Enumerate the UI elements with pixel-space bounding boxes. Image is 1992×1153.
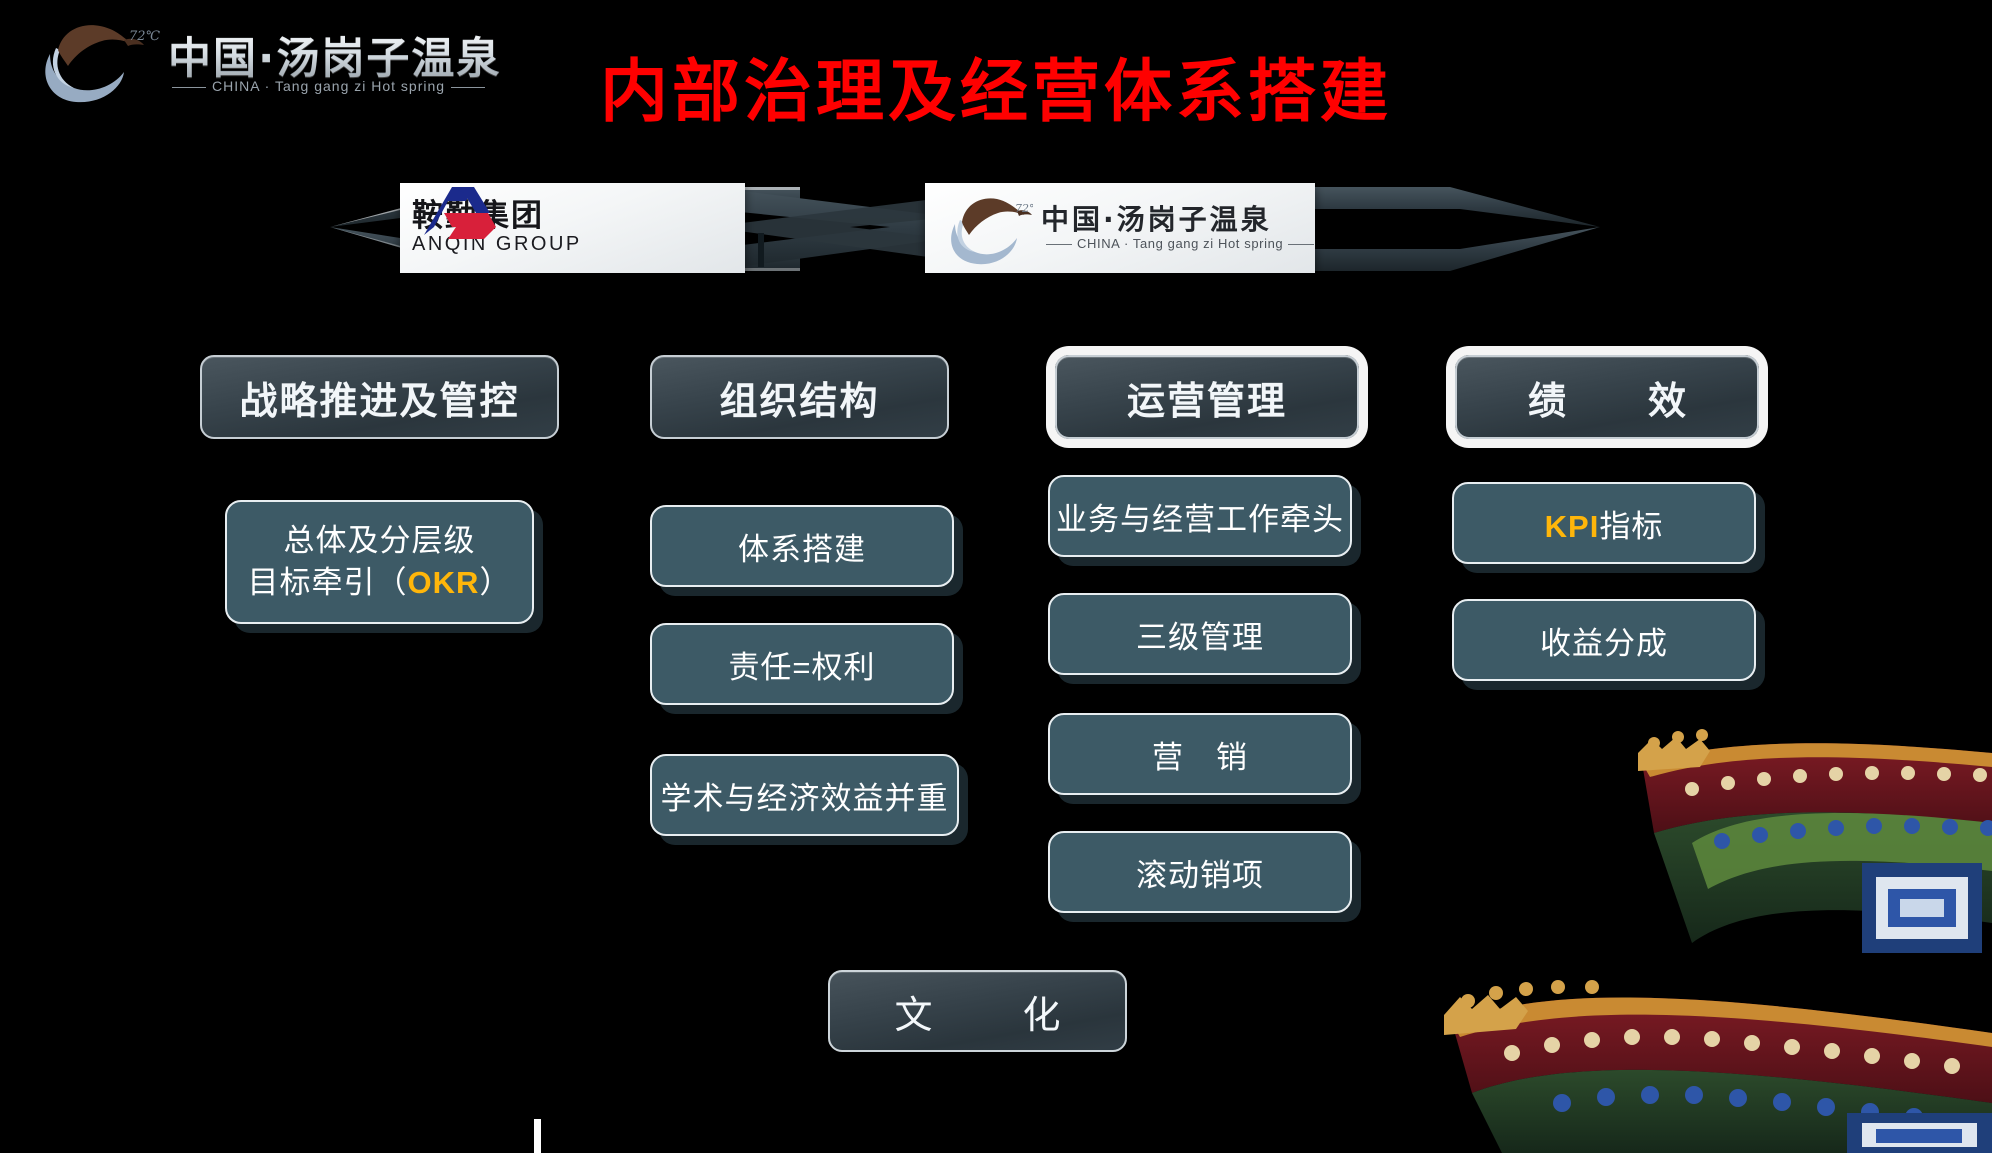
item-marketing-label: 营 销 (1152, 732, 1248, 777)
item-academic-economic-balance[interactable]: 学术与经济效益并重 (650, 754, 959, 836)
column-header-strategy[interactable]: 战略推进及管控 (200, 355, 559, 439)
item-business-operations-lead[interactable]: 业务与经营工作牵头 (1048, 475, 1352, 557)
hot-spring-name-cn: 中国·汤岗子温泉 (1041, 205, 1319, 236)
item-kpi-indicators[interactable]: KPI指标 (1452, 482, 1756, 564)
slide-canvas: 72℃ 中国·汤岗子温泉 CHINA · Tang gang zi Hot sp… (0, 0, 1992, 1153)
item-revenue-sharing-label: 收益分成 (1540, 618, 1668, 663)
anqin-group-logo-icon (422, 183, 506, 241)
hot-spring-circle-logo-icon-2: 72℃ (941, 190, 1033, 266)
culture-box[interactable]: 文 化 (828, 970, 1127, 1052)
item-okr-line1: 总体及分层级 (284, 520, 476, 562)
item-marketing[interactable]: 营 销 (1048, 713, 1352, 795)
hot-spring-name-en-text: CHINA · Tang gang zi Hot spring (1077, 236, 1283, 251)
anqin-group-logo-card: 鞍勤集团 ANQIN GROUP (400, 183, 745, 273)
bottom-slide-marker (534, 1119, 541, 1153)
item-three-level-label: 三级管理 (1136, 612, 1264, 657)
ribbon-connector: 鞍勤集团 ANQIN GROUP 72℃ 中国·汤岗子温泉 CHINA · Ta… (330, 175, 1600, 285)
item-okr-line2: 目标牵引（OKR） (248, 562, 512, 604)
column-header-organization-label: 组织结构 (719, 370, 879, 425)
item-rolling-sales-label: 滚动销项 (1136, 850, 1264, 895)
item-revenue-sharing[interactable]: 收益分成 (1452, 599, 1756, 681)
column-header-organization[interactable]: 组织结构 (650, 355, 949, 439)
chinese-temple-roof-eave-image (1392, 693, 1992, 1153)
item-three-level-management[interactable]: 三级管理 (1048, 593, 1352, 675)
svg-text:72℃: 72℃ (1015, 202, 1033, 215)
item-kpi-gold: KPI (1545, 509, 1600, 544)
column-header-strategy-label: 战略推进及管控 (239, 370, 519, 425)
svg-text:72℃: 72℃ (129, 29, 160, 44)
item-okr-gold: OKR (408, 565, 480, 600)
item-academic-label: 学术与经济效益并重 (661, 773, 949, 818)
column-header-performance-label: 绩 效 (1506, 370, 1708, 425)
column-header-operations-label: 运营管理 (1127, 370, 1287, 425)
page-title: 内部治理及经营体系搭建 (0, 58, 1992, 126)
item-kpi-label: KPI指标 (1545, 501, 1664, 546)
item-okr-target[interactable]: 总体及分层级 目标牵引（OKR） (225, 500, 534, 624)
item-business-lead-label: 业务与经营工作牵头 (1056, 494, 1344, 539)
culture-label: 文 化 (868, 984, 1086, 1039)
column-header-operations[interactable]: 运营管理 (1055, 355, 1359, 439)
item-system-building[interactable]: 体系搭建 (650, 505, 954, 587)
hot-spring-text: 中国·汤岗子温泉 CHINA · Tang gang zi Hot spring (1041, 205, 1319, 251)
item-system-building-label: 体系搭建 (738, 524, 866, 569)
column-header-performance[interactable]: 绩 效 (1455, 355, 1759, 439)
item-responsibility-label: 责任=权利 (728, 642, 875, 687)
item-rolling-sales[interactable]: 滚动销项 (1048, 831, 1352, 913)
hot-spring-logo-card: 72℃ 中国·汤岗子温泉 CHINA · Tang gang zi Hot sp… (925, 183, 1315, 273)
hot-spring-name-en: CHINA · Tang gang zi Hot spring (1041, 236, 1319, 251)
item-responsibility-equals-rights[interactable]: 责任=权利 (650, 623, 954, 705)
